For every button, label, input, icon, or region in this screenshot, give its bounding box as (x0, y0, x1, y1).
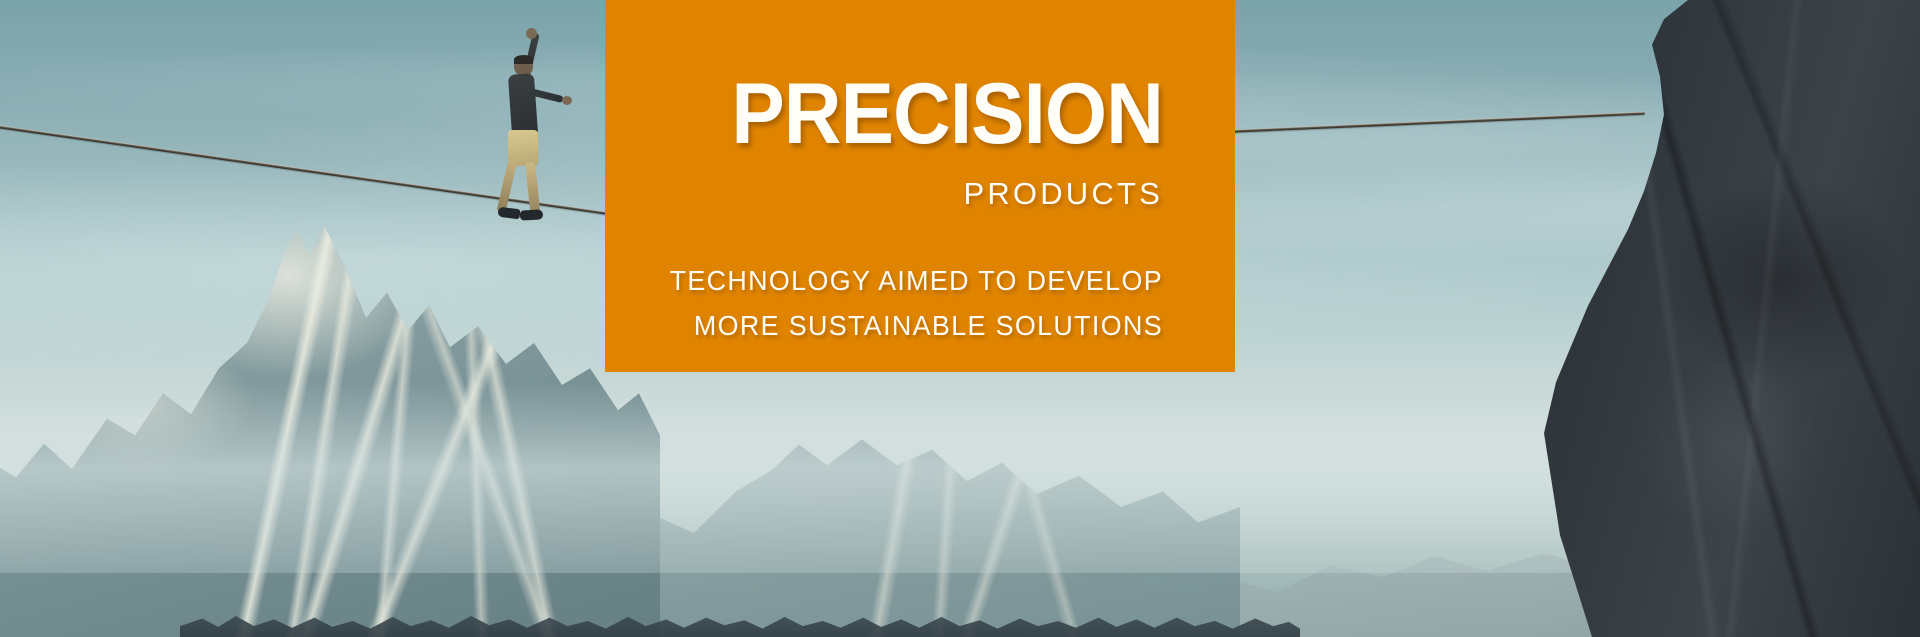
orange-text-panel: PRECISION PRODUCTS TECHNOLOGY AIMED TO D… (605, 0, 1235, 372)
walker-hand (562, 96, 572, 105)
walker-back-leg (496, 161, 516, 214)
headline-precision: PRECISION (681, 74, 1163, 156)
subheadline-products: PRODUCTS (645, 176, 1163, 212)
tightrope-right-segment (1225, 112, 1645, 133)
hero-banner: PRECISION PRODUCTS TECHNOLOGY AIMED TO D… (0, 0, 1920, 637)
tagline-line-2: MORE SUSTAINABLE SOLUTIONS (666, 303, 1163, 348)
walker-torso (508, 73, 538, 137)
right-cliff (1520, 0, 1920, 637)
tagline-block: TECHNOLOGY AIMED TO DEVELOP MORE SUSTAIN… (645, 258, 1163, 349)
tightrope-walker (470, 26, 580, 226)
walker-front-leg (525, 161, 540, 214)
walker-raised-fist (526, 28, 537, 39)
walker-shorts (508, 130, 538, 166)
mountain-snow-texture (0, 217, 660, 637)
walker-front-shoe (520, 209, 543, 220)
walker-hair (514, 55, 533, 64)
tagline-line-1: TECHNOLOGY AIMED TO DEVELOP (666, 258, 1163, 303)
walker-back-shoe (497, 207, 520, 220)
